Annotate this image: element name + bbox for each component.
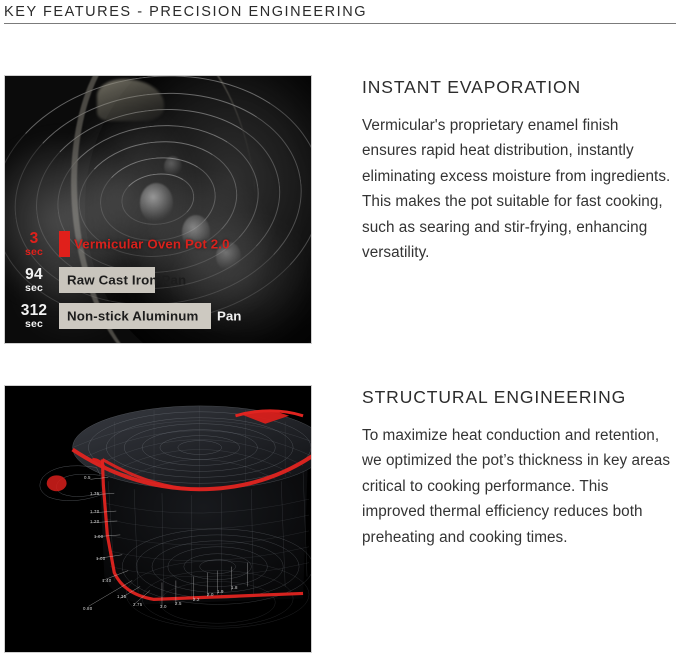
cad-wireframe-svg — [5, 386, 311, 652]
feature-body: Vermicular's proprietary enamel finish e… — [362, 113, 672, 265]
chart-value-unit: sec — [15, 319, 53, 330]
cad-callout: 1.35 — [117, 594, 126, 599]
cad-callout: 1.8 — [231, 585, 238, 590]
chart-bar-cast-iron: Raw Cast Iron Pan — [59, 267, 155, 293]
chart-value-number: 312 — [15, 303, 53, 319]
cad-callout: 1.9 — [217, 589, 224, 594]
chart-value-nonstick: 312 sec — [15, 303, 53, 330]
cad-callout: 2.2 — [193, 597, 200, 602]
chart-row-vermicular: 3 sec Vermicular Oven Pot 2.0 — [15, 229, 305, 259]
chart-value-unit: sec — [15, 247, 53, 258]
feature-body: To maximize heat conduction and retentio… — [362, 423, 672, 550]
chart-row-nonstick: 312 sec Non-stick Aluminum Pan — [15, 301, 305, 331]
chart-value-vermicular: 3 sec — [15, 231, 53, 258]
evaporation-copy: INSTANT EVAPORATION Vermicular's proprie… — [362, 75, 672, 265]
cad-callout: 0.80 — [83, 606, 92, 611]
chart-bar-vermicular: Vermicular Oven Pot 2.0 — [59, 231, 70, 257]
chart-value-cast-iron: 94 sec — [15, 267, 53, 294]
chart-row-cast-iron: 94 sec Raw Cast Iron Pan — [15, 265, 305, 295]
chart-bar-label: Non-stick Aluminum — [67, 309, 199, 324]
cad-wireframe: 0.5 1.75 1.70 1.20 1.00 1.00 1.40 1.35 0… — [5, 386, 311, 652]
cad-callout: 1.00 — [96, 556, 105, 561]
feature-title: INSTANT EVAPORATION — [362, 75, 672, 99]
chart-bar-label: Raw Cast Iron Pan — [67, 273, 186, 288]
feature-structural-engineering: 0.5 1.75 1.70 1.20 1.00 1.00 1.40 1.35 0… — [0, 385, 679, 653]
chart-value-number: 94 — [15, 267, 53, 283]
feature-title: STRUCTURAL ENGINEERING — [362, 385, 672, 409]
chart-bar-label-overflow: Pan — [217, 309, 241, 324]
cad-callout: 2.0 — [207, 592, 214, 597]
cad-callout: 1.00 — [94, 534, 103, 539]
chart-bar-label: Vermicular Oven Pot 2.0 — [74, 237, 230, 252]
structural-media: 0.5 1.75 1.70 1.20 1.00 1.00 1.40 1.35 0… — [4, 385, 312, 653]
chart-value-number: 3 — [15, 231, 53, 247]
page-title: KEY FEATURES - PRECISION ENGINEERING — [4, 0, 676, 22]
cad-callout: 3.0 — [160, 604, 167, 609]
chart-value-unit: sec — [15, 283, 53, 294]
feature-instant-evaporation: 3 sec Vermicular Oven Pot 2.0 94 sec Raw… — [0, 75, 679, 345]
evaporation-media: 3 sec Vermicular Oven Pot 2.0 94 sec Raw… — [4, 75, 312, 344]
section-header: KEY FEATURES - PRECISION ENGINEERING — [4, 0, 676, 30]
chart-bar-nonstick: Non-stick Aluminum Pan — [59, 303, 211, 329]
header-divider — [4, 23, 676, 24]
key-features-page: KEY FEATURES - PRECISION ENGINEERING — [0, 0, 679, 653]
cad-callout: 1.70 — [90, 509, 99, 514]
cad-callout: 1.75 — [90, 491, 99, 496]
evaporation-bar-chart: 3 sec Vermicular Oven Pot 2.0 94 sec Raw… — [15, 229, 305, 331]
cad-callout: 2.5 — [175, 601, 182, 606]
cad-callout: 1.20 — [90, 519, 99, 524]
cad-callout: 0.5 — [84, 475, 91, 480]
cad-callout: 2.75 — [133, 602, 142, 607]
cad-callout: 1.40 — [102, 578, 111, 583]
structural-copy: STRUCTURAL ENGINEERING To maximize heat … — [362, 385, 672, 550]
